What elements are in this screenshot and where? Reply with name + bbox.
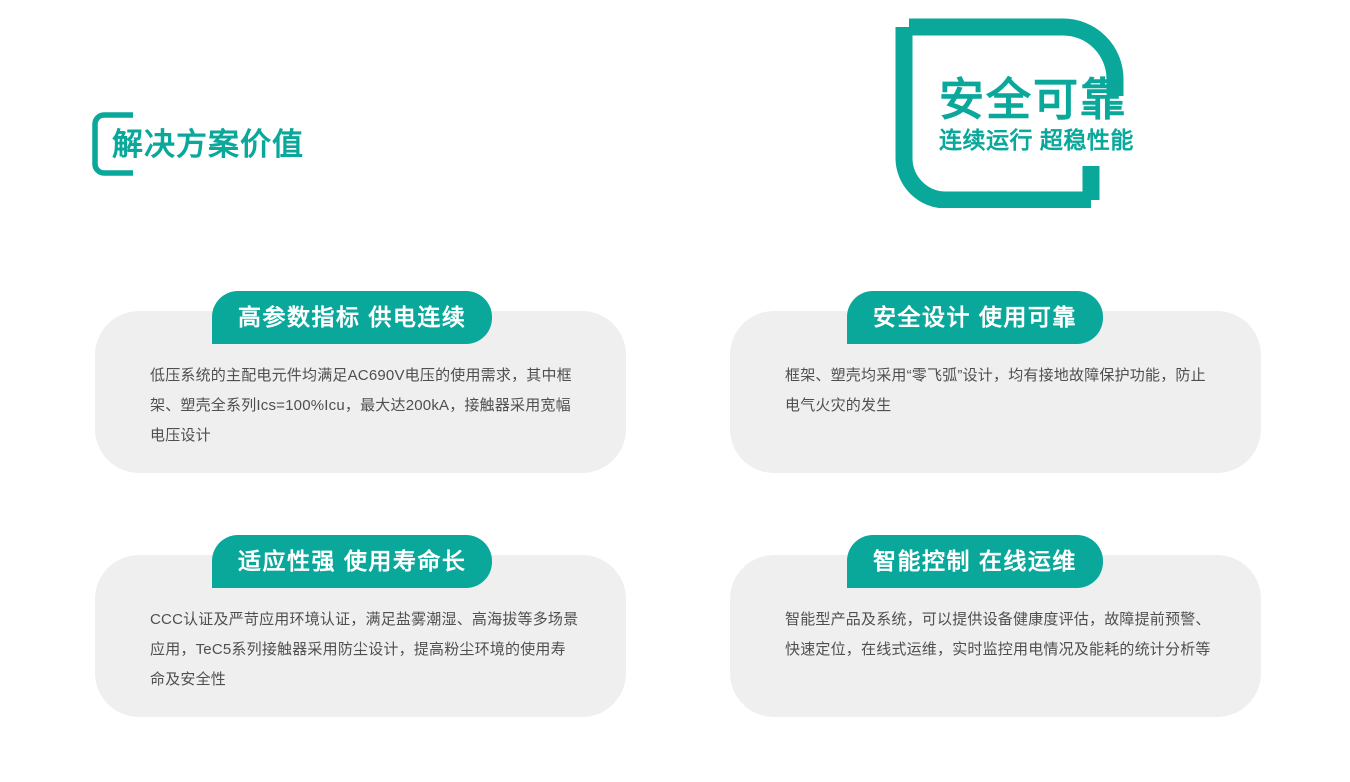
feature-card: 适应性强 使用寿命长 CCC认证及严苛应用环境认证，满足盐雾潮湿、高海拔等多场景… (95, 555, 626, 717)
card-tab: 智能控制 在线运维 (847, 535, 1103, 588)
badge-title: 安全可靠 (939, 76, 1189, 123)
feature-card: 安全设计 使用可靠 框架、塑壳均采用“零飞弧”设计，均有接地故障保护功能，防止电… (730, 311, 1261, 473)
feature-card: 高参数指标 供电连续 低压系统的主配电元件均满足AC690V电压的使用需求，其中… (95, 311, 626, 473)
card-tab-label: 高参数指标 供电连续 (238, 306, 466, 329)
card-body-text: 低压系统的主配电元件均满足AC690V电压的使用需求，其中框架、塑壳全系列Ics… (150, 361, 580, 451)
badge-subtitle: 连续运行 超稳性能 (939, 127, 1189, 155)
feature-card: 智能控制 在线运维 智能型产品及系统，可以提供设备健康度评估，故障提前预警、快速… (730, 555, 1261, 717)
card-body-text: 智能型产品及系统，可以提供设备健康度评估，故障提前预警、快速定位，在线式运维，实… (785, 605, 1215, 665)
card-tab-label: 适应性强 使用寿命长 (238, 550, 466, 573)
card-tab-label: 智能控制 在线运维 (873, 550, 1077, 573)
card-tab: 适应性强 使用寿命长 (212, 535, 492, 588)
card-body: 框架、塑壳均采用“零飞弧”设计，均有接地故障保护功能，防止电气火灾的发生 (785, 361, 1215, 421)
badge-text-group: 安全可靠 连续运行 超稳性能 (939, 76, 1189, 155)
card-tab: 高参数指标 供电连续 (212, 291, 492, 344)
card-body: CCC认证及严苛应用环境认证，满足盐雾潮湿、高海拔等多场景应用，TeC5系列接触… (150, 605, 580, 695)
card-tab: 安全设计 使用可靠 (847, 291, 1103, 344)
card-tab-label: 安全设计 使用可靠 (873, 306, 1077, 329)
card-body-text: CCC认证及严苛应用环境认证，满足盐雾潮湿、高海拔等多场景应用，TeC5系列接触… (150, 605, 580, 695)
card-body-text: 框架、塑壳均采用“零飞弧”设计，均有接地故障保护功能，防止电气火灾的发生 (785, 361, 1215, 421)
page-title: 解决方案价值 (112, 129, 304, 160)
card-body: 低压系统的主配电元件均满足AC690V电压的使用需求，其中框架、塑壳全系列Ics… (150, 361, 580, 451)
page-root: 解决方案价值 安全可靠 连续运行 超稳性能 高参数指标 供电连续 (0, 0, 1350, 782)
card-body: 智能型产品及系统，可以提供设备健康度评估，故障提前预警、快速定位，在线式运维，实… (785, 605, 1215, 665)
